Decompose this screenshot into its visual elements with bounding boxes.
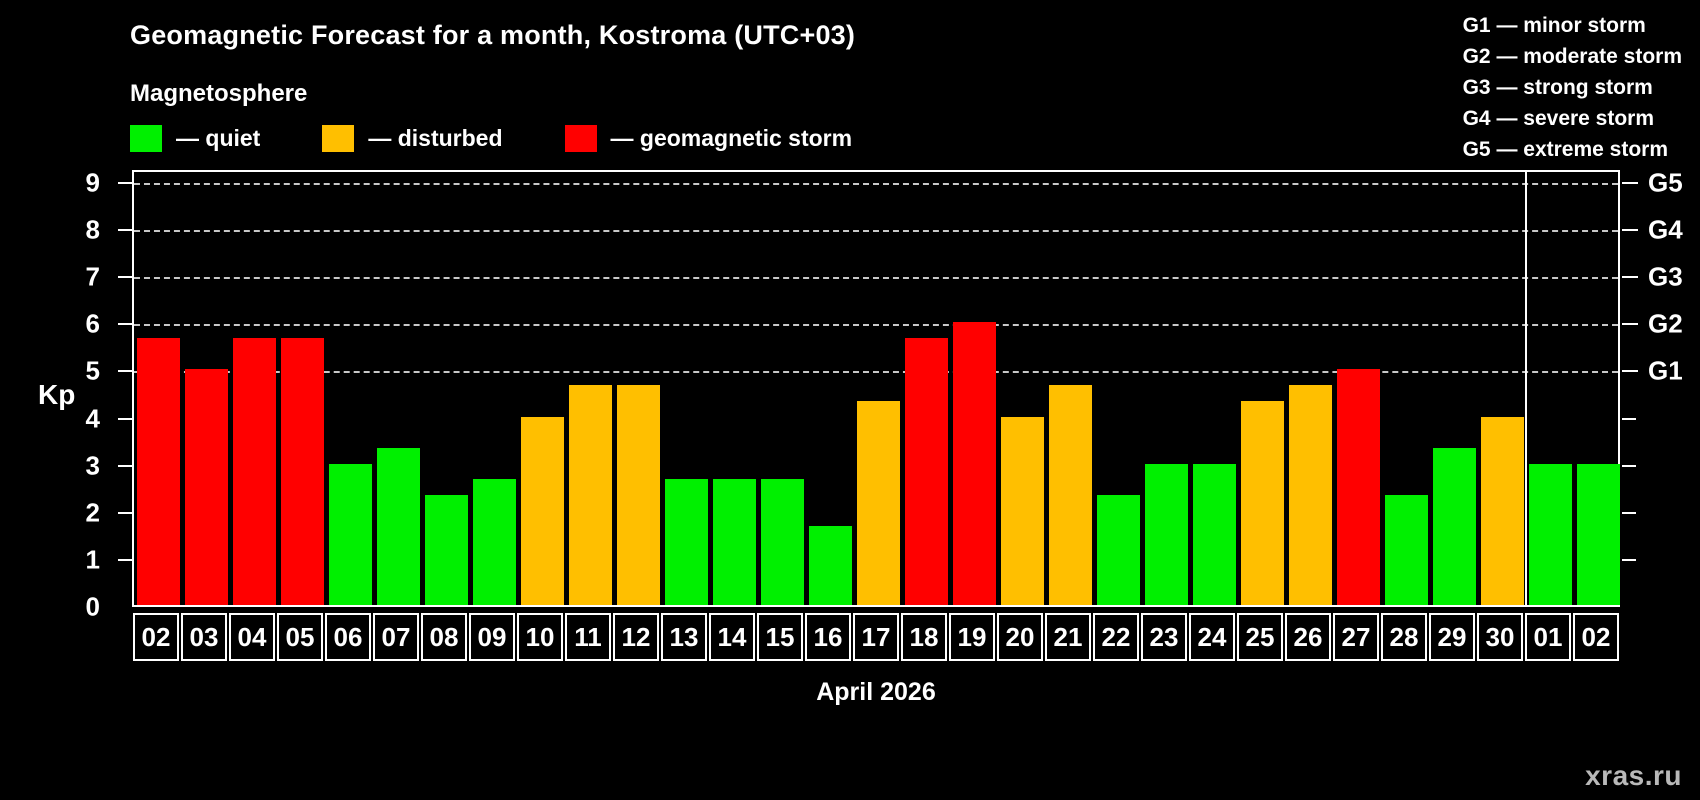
y-tick-label-9: 9 (86, 168, 100, 199)
date-cell-06-4[interactable]: 06 (325, 613, 371, 661)
gscale-row-g1: G1 — minor storm (1463, 10, 1682, 41)
date-cell-20-18[interactable]: 20 (997, 613, 1043, 661)
date-cell-08-6[interactable]: 08 (421, 613, 467, 661)
date-cell-29-27[interactable]: 29 (1429, 613, 1475, 661)
gridline-kp-5 (134, 371, 1618, 373)
bar-day-04[interactable] (233, 338, 276, 605)
bar-day-06[interactable] (329, 464, 372, 605)
bar-day-15[interactable] (761, 479, 804, 605)
gscale-row-g4: G4 — severe storm (1463, 103, 1682, 134)
y-tick-label-6: 6 (86, 309, 100, 340)
g-axis-minor-tick-3 (1622, 465, 1636, 467)
legend-label-quiet: — quiet (176, 125, 260, 152)
magnetosphere-heading: Magnetosphere (130, 80, 307, 108)
date-cell-02-0[interactable]: 02 (133, 613, 179, 661)
date-cell-25-23[interactable]: 25 (1237, 613, 1283, 661)
y-tick-label-0: 0 (86, 592, 100, 623)
bar-day-22[interactable] (1097, 495, 1140, 605)
bar-day-21[interactable] (1049, 385, 1092, 605)
date-cell-21-19[interactable]: 21 (1045, 613, 1091, 661)
date-cell-16-14[interactable]: 16 (805, 613, 851, 661)
gridline-kp-8 (134, 230, 1618, 232)
g-axis-minor-tick-4 (1622, 418, 1636, 420)
legend-entry-storm: — geomagnetic storm (565, 125, 853, 152)
y-tick-mark-5 (118, 370, 132, 372)
gridline-kp-9 (134, 183, 1618, 185)
y-tick-mark-8 (118, 229, 132, 231)
g-axis-minor-tick-1 (1622, 559, 1636, 561)
date-cell-23-21[interactable]: 23 (1141, 613, 1187, 661)
legend-entry-disturbed: — disturbed (322, 125, 502, 152)
orange-square-icon (322, 125, 354, 152)
date-cell-02-30[interactable]: 02 (1573, 613, 1619, 661)
y-tick-mark-4 (118, 418, 132, 420)
bar-day-09[interactable] (473, 479, 516, 605)
bar-day-13[interactable] (665, 479, 708, 605)
g-axis-minor-tick-2 (1622, 512, 1636, 514)
legend-label-disturbed: — disturbed (368, 125, 502, 152)
gscale-legend: G1 — minor storm G2 — moderate storm G3 … (1463, 10, 1682, 165)
bar-day-02[interactable] (1577, 464, 1620, 605)
bar-day-25[interactable] (1241, 401, 1284, 605)
g-tick-mark-g4 (1622, 229, 1638, 231)
y-tick-label-3: 3 (86, 450, 100, 481)
bar-day-07[interactable] (377, 448, 420, 605)
legend-label-storm: — geomagnetic storm (611, 125, 853, 152)
date-cell-09-7[interactable]: 09 (469, 613, 515, 661)
bar-day-27[interactable] (1337, 369, 1380, 605)
bar-day-14[interactable] (713, 479, 756, 605)
date-cell-07-5[interactable]: 07 (373, 613, 419, 661)
bar-day-28[interactable] (1385, 495, 1428, 605)
y-tick-mark-9 (118, 182, 132, 184)
forecast-divider (1525, 172, 1527, 605)
date-cell-10-8[interactable]: 10 (517, 613, 563, 661)
x-axis-date-labels: 0203040506070809101112131415161718192021… (132, 613, 1620, 661)
bar-day-03[interactable] (185, 369, 228, 605)
y-tick-label-4: 4 (86, 403, 100, 434)
bar-day-23[interactable] (1145, 464, 1188, 605)
gscale-row-g3: G3 — strong storm (1463, 72, 1682, 103)
bar-day-11[interactable] (569, 385, 612, 605)
bar-day-01[interactable] (1529, 464, 1572, 605)
watermark: xras.ru (1585, 760, 1682, 792)
date-cell-13-11[interactable]: 13 (661, 613, 707, 661)
y-axis-title: Kp (38, 379, 75, 411)
gscale-row-g2: G2 — moderate storm (1463, 41, 1682, 72)
bar-day-08[interactable] (425, 495, 468, 605)
date-cell-30-28[interactable]: 30 (1477, 613, 1523, 661)
bar-day-02[interactable] (137, 338, 180, 605)
gscale-row-g5: G5 — extreme storm (1463, 134, 1682, 165)
y-tick-label-7: 7 (86, 262, 100, 293)
bar-day-12[interactable] (617, 385, 660, 605)
date-cell-19-17[interactable]: 19 (949, 613, 995, 661)
y-tick-label-2: 2 (86, 497, 100, 528)
g-tick-mark-g3 (1622, 276, 1638, 278)
y-tick-mark-7 (118, 276, 132, 278)
date-cell-03-1[interactable]: 03 (181, 613, 227, 661)
page-title: Geomagnetic Forecast for a month, Kostro… (130, 20, 855, 51)
date-cell-12-10[interactable]: 12 (613, 613, 659, 661)
g-tick-label-g2: G2 (1648, 309, 1683, 340)
date-cell-04-2[interactable]: 04 (229, 613, 275, 661)
date-cell-18-16[interactable]: 18 (901, 613, 947, 661)
y-tick-label-1: 1 (86, 544, 100, 575)
red-square-icon (565, 125, 597, 152)
bar-day-20[interactable] (1001, 417, 1044, 605)
bar-day-30[interactable] (1481, 417, 1524, 605)
green-square-icon (130, 125, 162, 152)
date-cell-22-20[interactable]: 22 (1093, 613, 1139, 661)
g-tick-label-g1: G1 (1648, 356, 1683, 387)
gridline-kp-6 (134, 324, 1618, 326)
g-tick-label-g5: G5 (1648, 168, 1683, 199)
g-tick-mark-g5 (1622, 182, 1638, 184)
magnetosphere-legend: — quiet — disturbed — geomagnetic storm (130, 125, 914, 152)
date-cell-01-29[interactable]: 01 (1525, 613, 1571, 661)
y-tick-mark-3 (118, 465, 132, 467)
bar-day-24[interactable] (1193, 464, 1236, 605)
bar-day-19[interactable] (953, 322, 996, 605)
date-cell-14-12[interactable]: 14 (709, 613, 755, 661)
bar-day-16[interactable] (809, 526, 852, 605)
y-tick-mark-2 (118, 512, 132, 514)
date-cell-26-24[interactable]: 26 (1285, 613, 1331, 661)
bar-day-18[interactable] (905, 338, 948, 605)
plot-inner (134, 172, 1618, 605)
y-tick-label-8: 8 (86, 215, 100, 246)
date-cell-27-25[interactable]: 27 (1333, 613, 1379, 661)
g-tick-label-g4: G4 (1648, 215, 1683, 246)
bar-day-05[interactable] (281, 338, 324, 605)
bar-day-17[interactable] (857, 401, 900, 605)
x-axis-title: April 2026 (132, 678, 1620, 707)
g-tick-mark-g1 (1622, 370, 1638, 372)
gridline-kp-7 (134, 277, 1618, 279)
bar-day-10[interactable] (521, 417, 564, 605)
plot-area (132, 170, 1620, 607)
y-tick-mark-6 (118, 323, 132, 325)
date-cell-11-9[interactable]: 11 (565, 613, 611, 661)
y-tick-label-5: 5 (86, 356, 100, 387)
legend-entry-quiet: — quiet (130, 125, 260, 152)
bar-day-26[interactable] (1289, 385, 1332, 605)
bar-day-29[interactable] (1433, 448, 1476, 605)
date-cell-17-15[interactable]: 17 (853, 613, 899, 661)
g-tick-label-g3: G3 (1648, 262, 1683, 293)
y-tick-mark-1 (118, 559, 132, 561)
g-tick-mark-g2 (1622, 323, 1638, 325)
date-cell-28-26[interactable]: 28 (1381, 613, 1427, 661)
date-cell-05-3[interactable]: 05 (277, 613, 323, 661)
date-cell-15-13[interactable]: 15 (757, 613, 803, 661)
date-cell-24-22[interactable]: 24 (1189, 613, 1235, 661)
